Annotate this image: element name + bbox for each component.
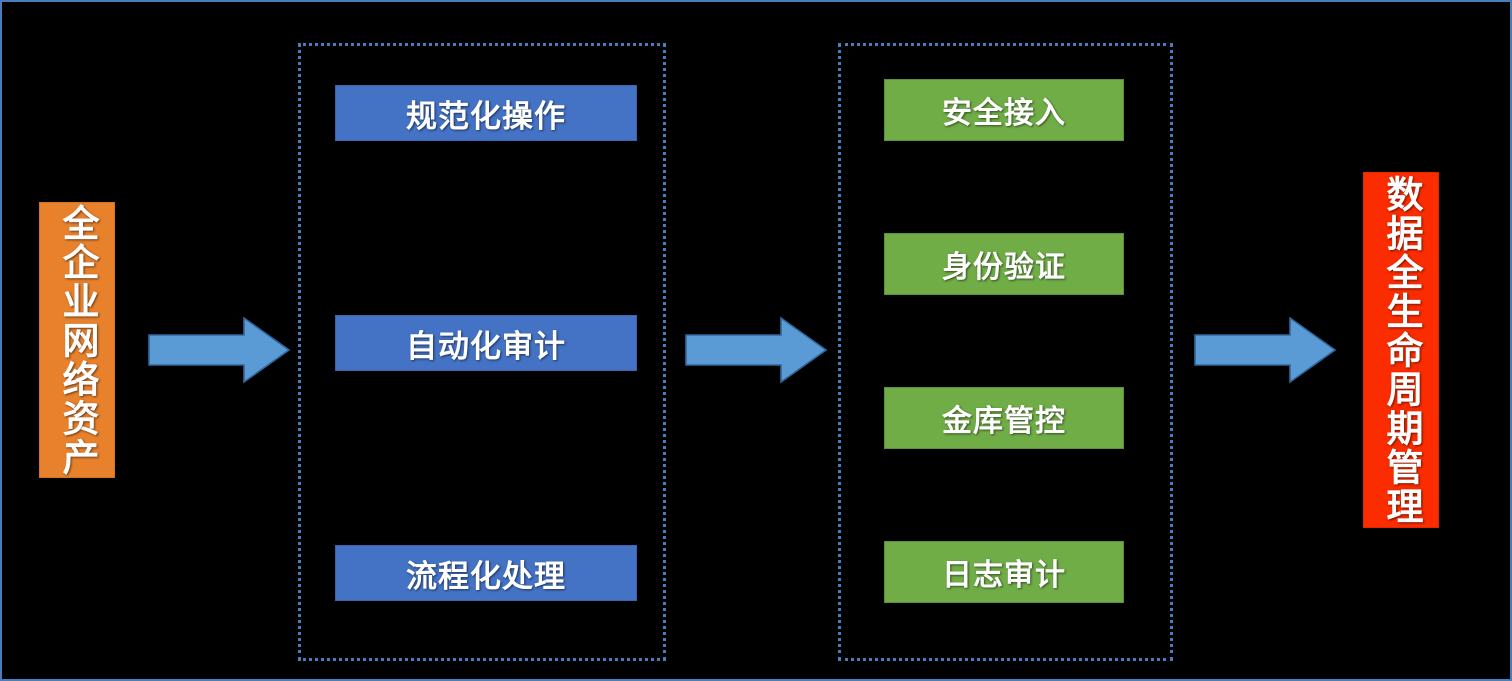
right-arrow-icon — [148, 315, 291, 385]
diagram-canvas: 全企业网络资产 规范化操作 自动化审计 流程化处理 安全接入 身份验证 金库管控… — [0, 0, 1512, 681]
node-standardized-operation[interactable]: 规范化操作 — [335, 85, 637, 141]
arrow-operations-to-security — [685, 315, 828, 385]
node-log-audit[interactable]: 日志审计 — [884, 541, 1124, 603]
right-arrow-icon — [685, 315, 828, 385]
target-node-data-lifecycle-management[interactable]: 数据全生命周期管理 — [1363, 172, 1439, 528]
right-arrow-icon — [1194, 315, 1337, 385]
node-automated-audit[interactable]: 自动化审计 — [335, 315, 637, 371]
node-process-handling[interactable]: 流程化处理 — [335, 545, 637, 601]
source-node-network-assets[interactable]: 全企业网络资产 — [39, 202, 115, 478]
node-vault-control[interactable]: 金库管控 — [884, 387, 1124, 449]
arrow-source-to-operations — [148, 315, 291, 385]
arrow-security-to-target — [1194, 315, 1337, 385]
node-secure-access[interactable]: 安全接入 — [884, 79, 1124, 141]
node-identity-verification[interactable]: 身份验证 — [884, 233, 1124, 295]
